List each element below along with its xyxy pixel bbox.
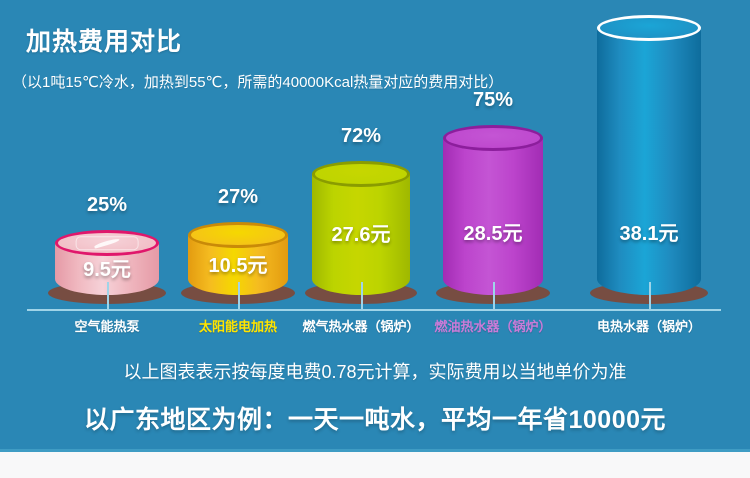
axis-tick (238, 282, 240, 310)
axis-tick (649, 282, 651, 310)
bottom-white-strip (0, 452, 750, 478)
bar-value-label: 27.6元 (312, 218, 410, 247)
bar-cylinder-rim (312, 161, 410, 187)
bar-percent-label: 72% (312, 125, 410, 148)
axis-tick (493, 282, 495, 310)
chart-bar (443, 125, 543, 295)
highlight-text: 以广东地区为例：一天一吨水，平均一年省10000元 (0, 400, 750, 436)
chart-baseline-axis (27, 309, 721, 311)
chart-plot-area: 25%9.5元27%10.5元72%27.6元75%28.5元38.1元 (0, 0, 750, 330)
bar-value-label: 10.5元 (188, 249, 288, 278)
bar-cylinder-rim (443, 125, 543, 151)
brand-emblem-icon (76, 236, 139, 250)
category-label-5: 电热水器（锅炉） (559, 316, 739, 335)
axis-tick (361, 282, 363, 310)
bar-cylinder-cap (191, 225, 285, 245)
bar-cylinder-cap (58, 233, 156, 253)
bar-cylinder-cap (600, 18, 698, 38)
bar-cylinder-rim (597, 15, 701, 41)
bar-cylinder-cap (315, 164, 407, 184)
bar-cylinder-cap (446, 128, 540, 148)
category-label-4: 燃油热水器（锅炉） (403, 316, 583, 335)
infographic-canvas: 加热费用对比 （以1吨15℃冷水，加热到55℃，所需的40000Kcal热量对应… (0, 0, 750, 478)
bar-cylinder-rim (188, 222, 288, 248)
bar-value-label: 38.1元 (597, 217, 701, 246)
chart-bar (597, 15, 701, 295)
bar-value-label: 28.5元 (443, 217, 543, 246)
footnote-text: 以上图表表示按每度电费0.78元计算，实际费用以当地单价为准 (0, 358, 750, 384)
bar-cylinder-body (597, 28, 701, 295)
bar-percent-label: 27% (188, 186, 288, 209)
bar-value-label: 9.5元 (55, 253, 159, 282)
axis-tick (107, 282, 109, 310)
bar-percent-label: 75% (443, 89, 543, 112)
bar-percent-label: 25% (55, 194, 159, 217)
